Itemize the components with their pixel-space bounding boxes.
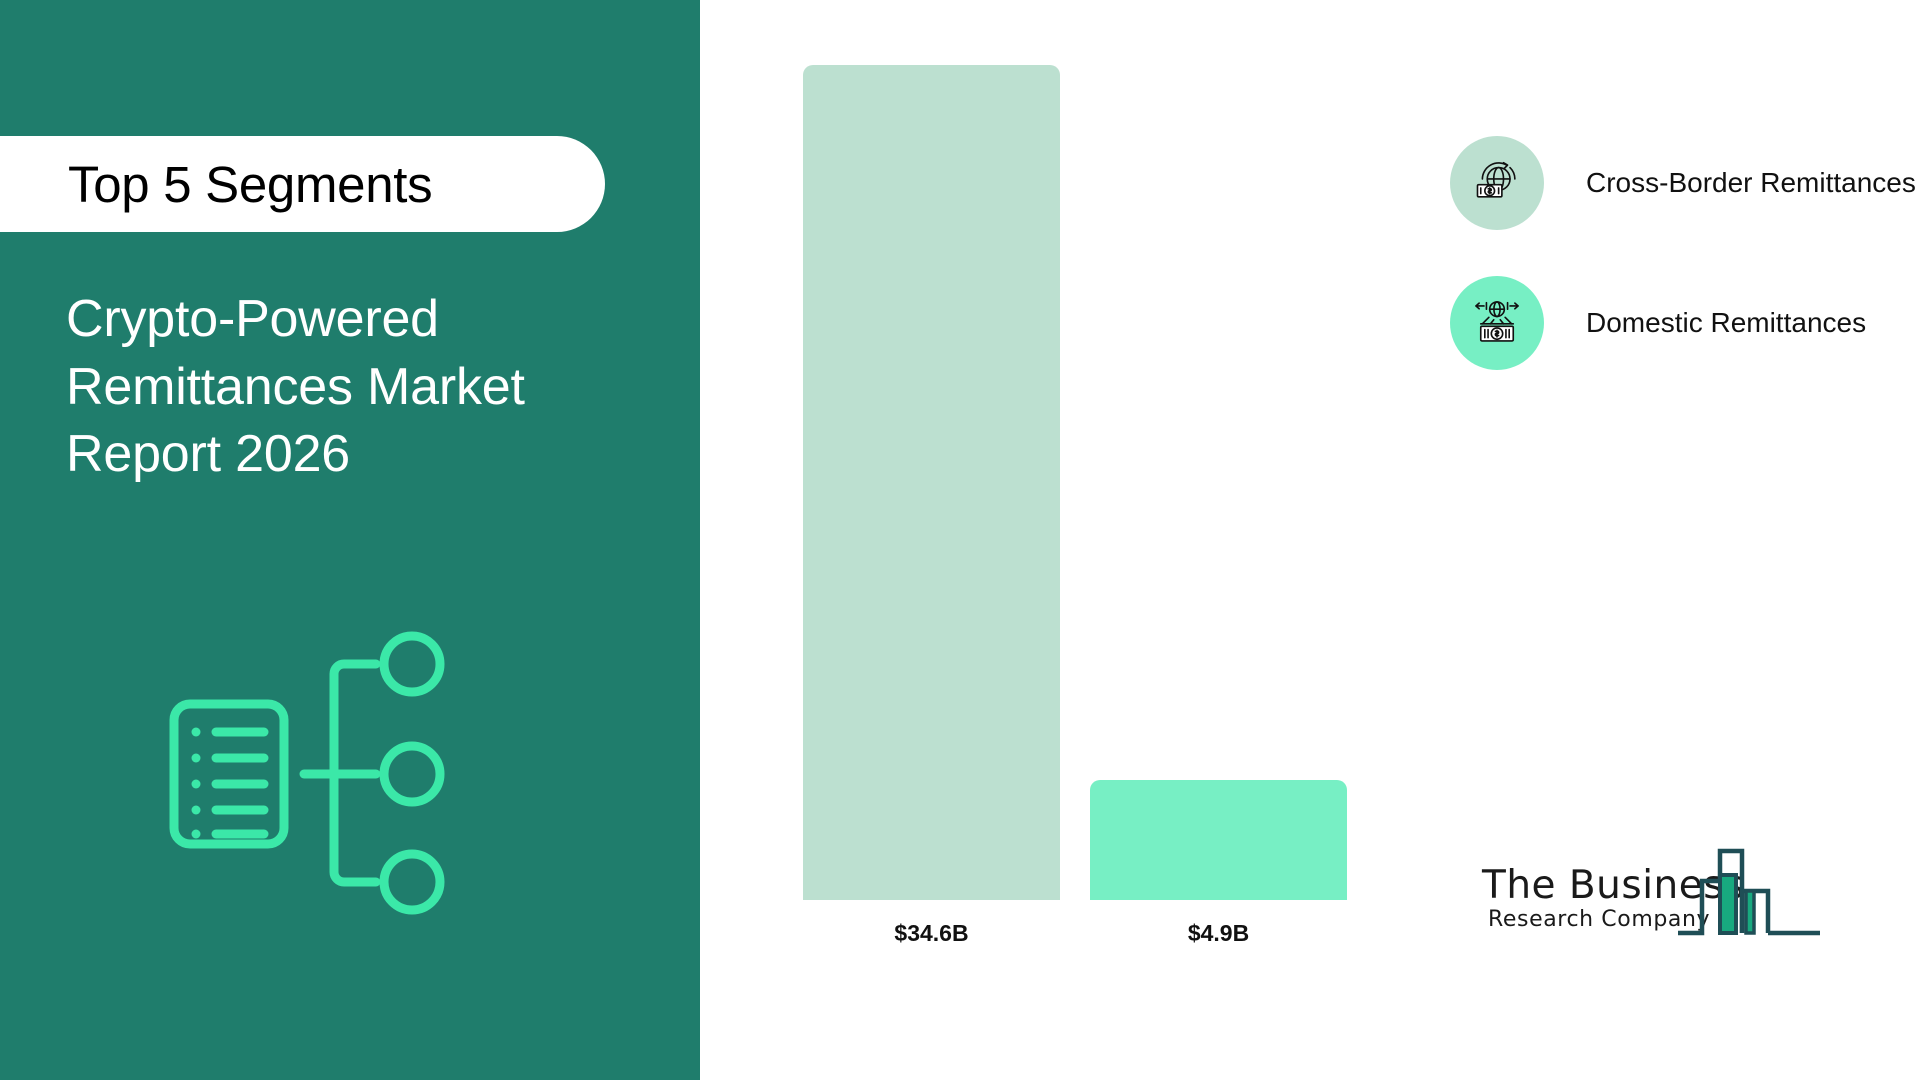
- globe-money-icon: [1450, 136, 1544, 230]
- brand-logo: The Business Research Company: [1480, 845, 1820, 965]
- legend-label: Domestic Remittances: [1586, 307, 1866, 339]
- sidebar-panel: Top 5 Segments Crypto-Powered Remittance…: [0, 0, 700, 1080]
- legend-item-domestic: Domestic Remittances: [1450, 276, 1910, 370]
- bar-value-label: $4.9B: [1090, 920, 1347, 947]
- page-title: Crypto-Powered Remittances Market Report…: [66, 286, 666, 489]
- segments-hierarchy-icon: [168, 620, 488, 920]
- bar-chart-logo-icon: [1676, 845, 1826, 950]
- chart-bar: [803, 65, 1060, 900]
- eyebrow-badge: Top 5 Segments: [0, 136, 605, 232]
- chart-legend: Cross-Border Remittances: [1450, 136, 1910, 416]
- legend-label: Cross-Border Remittances: [1586, 167, 1916, 199]
- bar-value-label: $34.6B: [803, 920, 1060, 947]
- globe-exchange-banknote-icon: [1450, 276, 1544, 370]
- legend-item-cross-border: Cross-Border Remittances: [1450, 136, 1910, 230]
- chart-bar: [1090, 780, 1347, 900]
- eyebrow-label: Top 5 Segments: [68, 155, 432, 214]
